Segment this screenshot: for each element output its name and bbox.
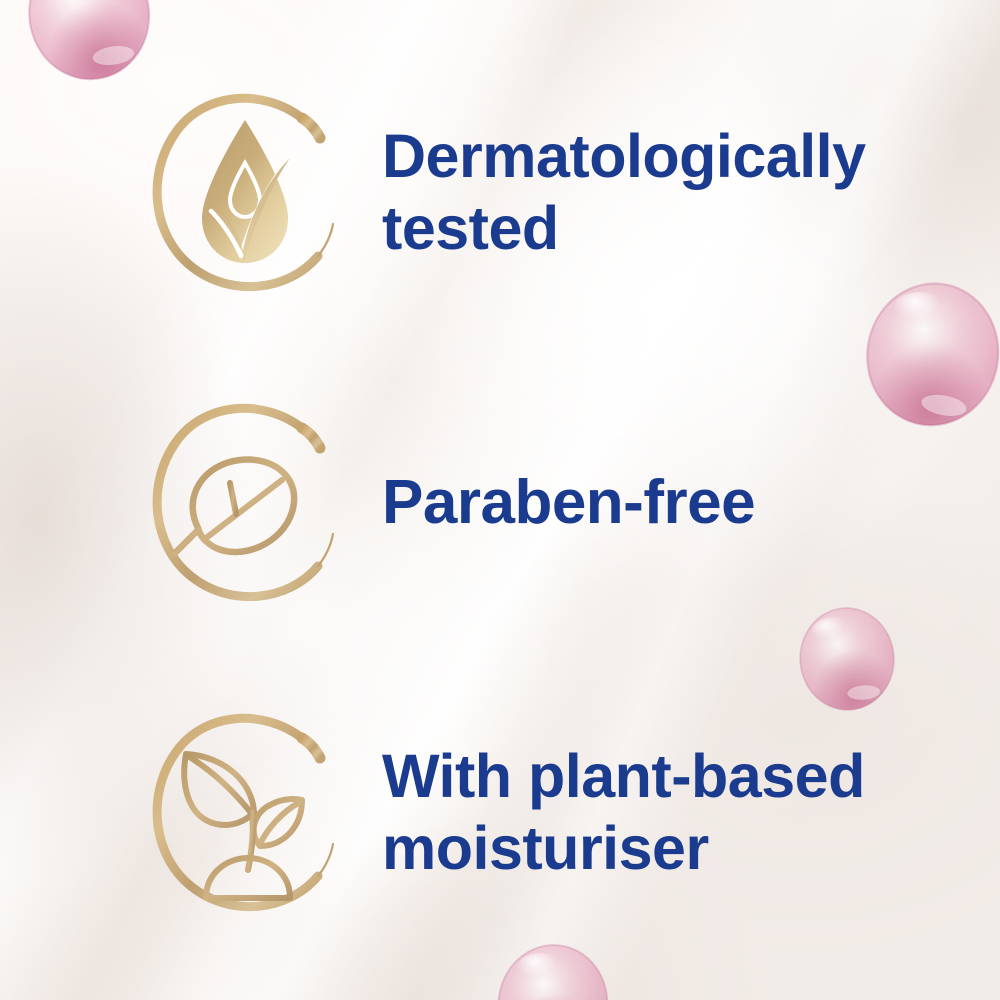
benefit-row-plant-based-moisturiser: With plant-based moisturiser [130, 698, 970, 928]
droplet-bottom [486, 932, 621, 1000]
leaf-icon [130, 388, 360, 618]
benefit-label-paraben-free: Paraben-free [382, 466, 755, 539]
promo-banner: Dermatologically tested [0, 0, 1000, 1000]
benefit-row-paraben-free: Paraben-free [130, 388, 970, 618]
benefit-label-dermatologically-tested: Dermatologically tested [382, 121, 942, 265]
sprout-icon [130, 698, 360, 928]
benefit-label-plant-based-moisturiser: With plant-based moisturiser [382, 741, 942, 885]
benefit-row-dermatologically-tested: Dermatologically tested [130, 78, 970, 308]
droplet-check-icon [130, 78, 360, 308]
